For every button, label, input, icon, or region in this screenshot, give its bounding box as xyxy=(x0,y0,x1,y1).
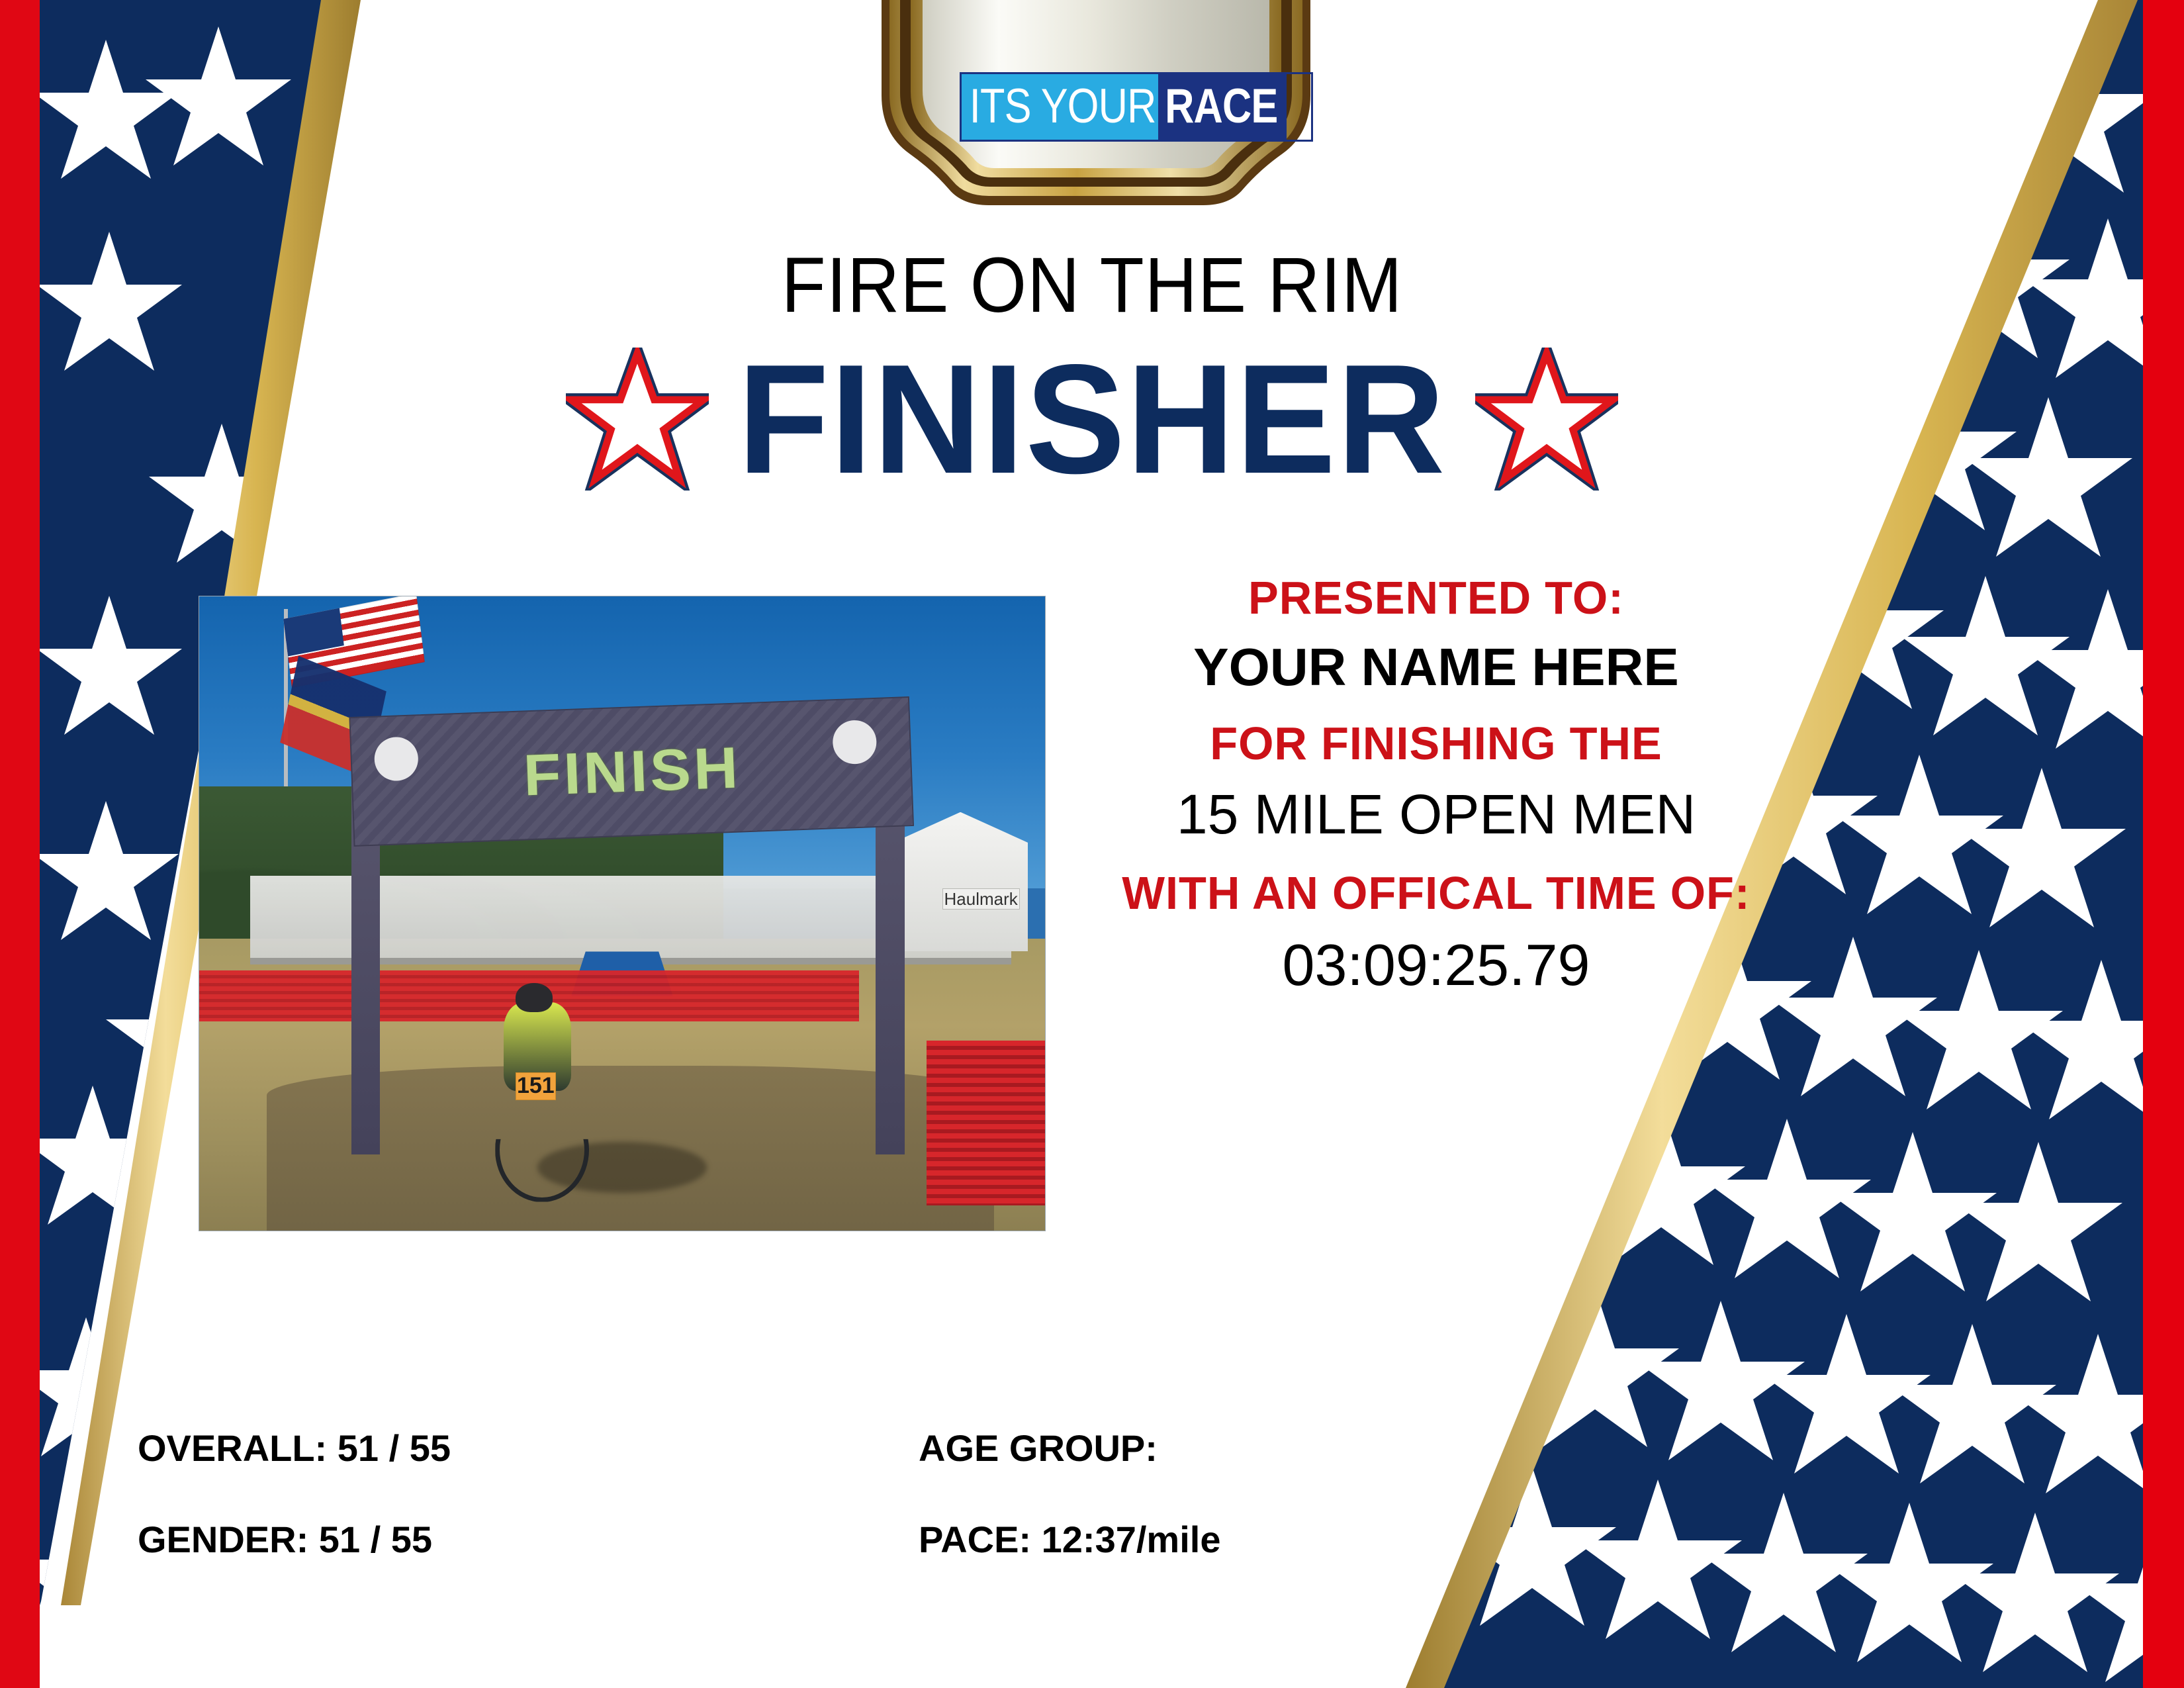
stat-pace: PACE: 12:37/mile xyxy=(919,1521,1395,1558)
award-word: FINISHER xyxy=(738,341,1447,496)
its-your-race-logo[interactable]: ITS YOUR RACE xyxy=(872,0,1320,214)
trailer-label: Haulmark xyxy=(942,888,1020,910)
official-time-value: 03:09:25.79 xyxy=(1085,936,1787,994)
presented-to-label: PRESENTED TO: xyxy=(1093,575,1780,621)
finish-banner: FINISH xyxy=(349,696,914,847)
star-left-icon xyxy=(566,348,709,491)
stat-gender: GENDER: 51 / 55 xyxy=(138,1521,919,1558)
stat-age-group: AGE GROUP: xyxy=(919,1430,1395,1467)
recipient-name: YOUR NAME HERE xyxy=(1085,641,1787,694)
finish-banner-text: FINISH xyxy=(522,733,742,809)
sponsor-logo-left-icon xyxy=(373,736,418,781)
star-right-icon xyxy=(1475,348,1618,491)
certificate-details: PRESENTED TO: YOUR NAME HERE FOR FINISHI… xyxy=(1085,575,1787,994)
logo-race: RACE xyxy=(1158,74,1287,140)
certificate-page: ITS YOUR RACE FIRE ON THE RIM FINISHER xyxy=(0,0,2184,1688)
right-red-stripe xyxy=(2143,0,2184,1688)
finish-line-photo: FINISH Haulmark 151 xyxy=(199,596,1046,1231)
result-stats: OVERALL: 51 / 55 AGE GROUP: GENDER: 51 /… xyxy=(138,1430,1395,1558)
stat-overall: OVERALL: 51 / 55 xyxy=(138,1430,919,1467)
race-bib-number: 151 xyxy=(516,1072,556,1100)
finisher-heading-row: FINISHER xyxy=(0,344,2184,494)
logo-its-your: ITS YOUR xyxy=(962,74,1161,140)
logo-wordmark: ITS YOUR RACE xyxy=(962,74,1311,140)
photo-red-fence-right xyxy=(927,1041,1045,1205)
for-finishing-label: FOR FINISHING THE xyxy=(1093,720,1780,767)
page-title: FIRE ON THE RIM xyxy=(77,246,2108,324)
left-red-stripe xyxy=(0,0,40,1688)
photo-rider-helmet xyxy=(516,983,553,1012)
event-category: 15 MILE OPEN MEN xyxy=(1085,786,1787,842)
sponsor-logo-right-icon xyxy=(832,720,877,765)
official-time-label: WITH AN OFFICAL TIME OF: xyxy=(1093,870,1780,916)
